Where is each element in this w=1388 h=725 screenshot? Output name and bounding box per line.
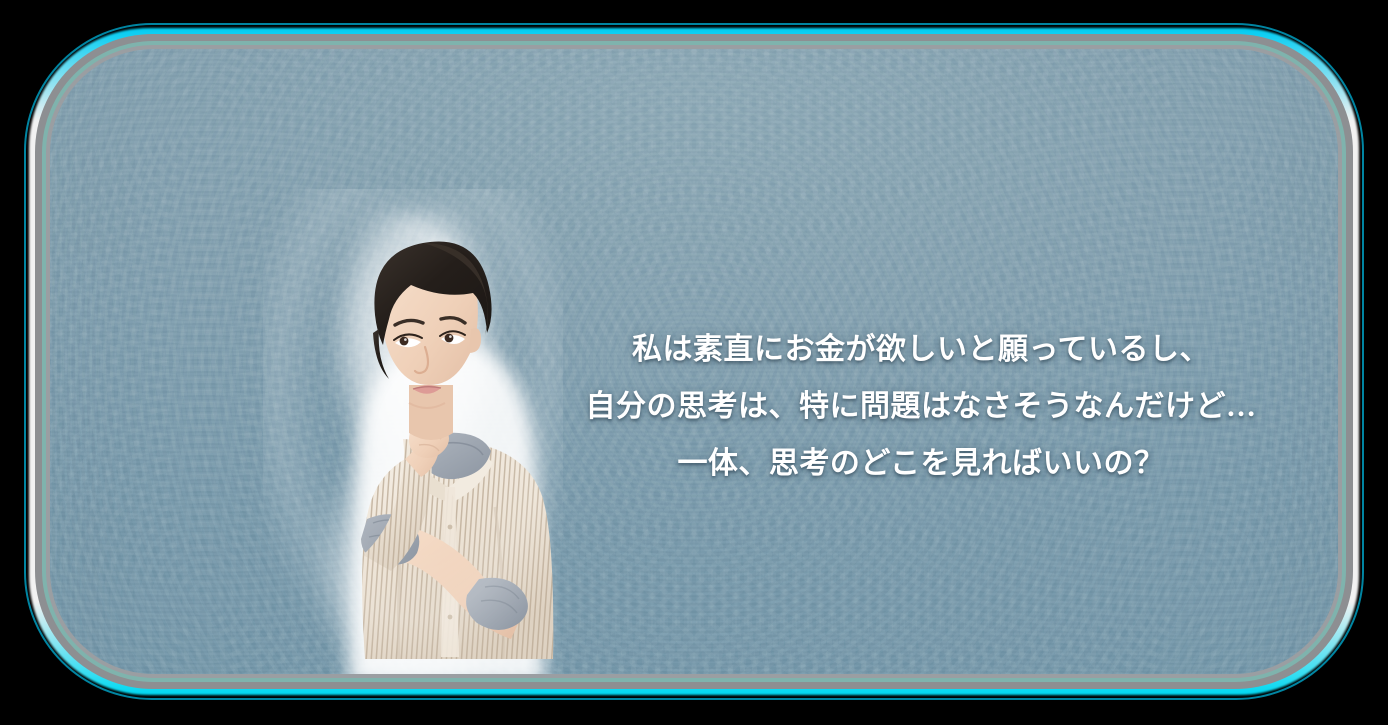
card-body: 私は素直にお金が欲しいと願っているし、 自分の思考は、特に問題はなさそうなんだけ…: [50, 49, 1338, 674]
rounded-banner-card: 私は素直にお金が欲しいと願っているし、 自分の思考は、特に問題はなさそうなんだけ…: [33, 32, 1355, 691]
figure-outline-glow: [349, 227, 545, 674]
quote-line-2: 自分の思考は、特に問題はなさそうなんだけど…: [550, 378, 1292, 435]
quote-line-3: 一体、思考のどこを見ればいいの？: [550, 435, 1292, 492]
figure-turtleneck: [415, 433, 491, 479]
japanese-quote: 私は素直にお金が欲しいと願っているし、 自分の思考は、特に問題はなさそうなんだけ…: [550, 321, 1292, 492]
figure-right-arm: [363, 419, 449, 571]
figure-coat: [362, 439, 553, 659]
figure-head: [373, 241, 492, 440]
figure-left-arm: [361, 514, 528, 639]
figure-halo-glow: [288, 209, 546, 674]
quote-line-1: 私は素直にお金が欲しいと願っているし、: [550, 321, 1292, 378]
thinking-woman-photo: [263, 189, 563, 674]
screenshot-stage: 私は素直にお金が欲しいと願っているし、 自分の思考は、特に問題はなさそうなんだけ…: [0, 0, 1388, 725]
